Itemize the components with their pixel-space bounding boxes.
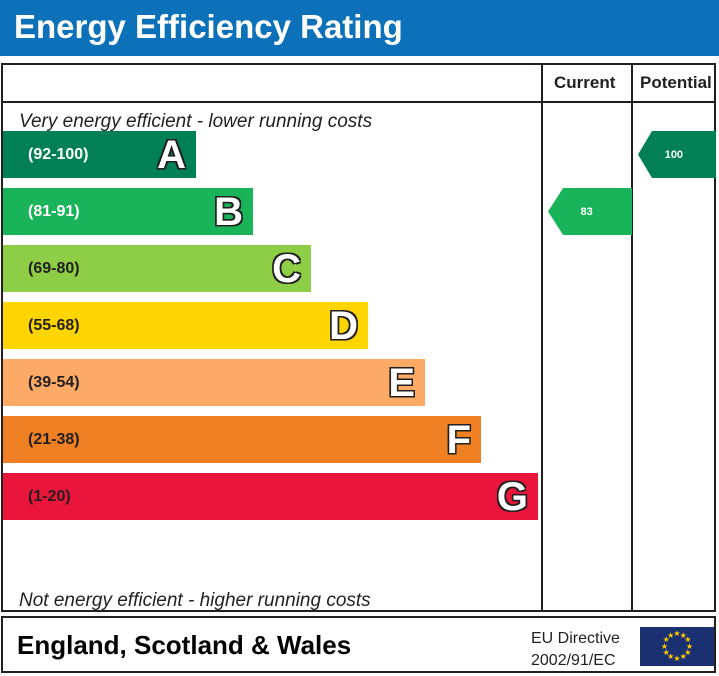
band-range-g: (1-20) [28,488,71,506]
band-letter-c: C [272,249,301,289]
footer-directive-line2: 2002/91/EC [531,650,620,672]
band-letter-a: A [157,135,186,175]
band-range-a: (92-100) [28,146,88,164]
rating-arrow-potential: 100 [638,131,716,178]
column-divider-potential [631,65,633,610]
energy-efficiency-rating-chart: Energy Efficiency Rating Current Potenti… [0,0,719,676]
column-divider-current [541,65,543,610]
band-range-d: (55-68) [28,317,80,335]
column-header-current: Current [554,73,615,93]
band-e: (39-54)E [3,359,425,406]
footer-directive-label: EU Directive 2002/91/EC [531,628,620,671]
band-g: (1-20)G [3,473,538,520]
footer-bar: England, Scotland & Wales EU Directive 2… [1,616,716,673]
rating-value-potential: 100 [665,149,683,161]
eu-flag-star-icon: ★ [673,655,680,663]
band-range-f: (21-38) [28,431,80,449]
band-letter-f: F [447,420,471,460]
band-letter-b: B [214,192,243,232]
eu-flag-icon: ★★★★★★★★★★★★ [640,627,714,666]
eu-flag-star-icon: ★ [667,632,674,640]
band-range-c: (69-80) [28,260,80,278]
band-letter-g: G [497,477,528,517]
band-range-e: (39-54) [28,374,80,392]
page-title: Energy Efficiency Rating [14,8,403,46]
band-letter-d: D [329,306,358,346]
eu-flag-star-icon: ★ [680,653,687,661]
band-d: (55-68)D [3,302,368,349]
band-b: (81-91)B [3,188,253,235]
footer-region-label: England, Scotland & Wales [17,630,351,661]
band-a: (92-100)A [3,131,196,178]
header-bar: Energy Efficiency Rating [0,0,719,56]
band-range-b: (81-91) [28,203,80,221]
band-letter-e: E [388,363,415,403]
band-c: (69-80)C [3,245,311,292]
band-list: (92-100)A(81-91)B(69-80)C(55-68)D(39-54)… [3,65,539,610]
column-header-potential: Potential [640,73,712,93]
rating-arrow-current: 83 [548,188,632,235]
rating-table: Current Potential Very energy efficient … [1,63,716,612]
band-f: (21-38)F [3,416,481,463]
rating-value-current: 83 [581,206,593,218]
footer-directive-line1: EU Directive [531,628,620,650]
